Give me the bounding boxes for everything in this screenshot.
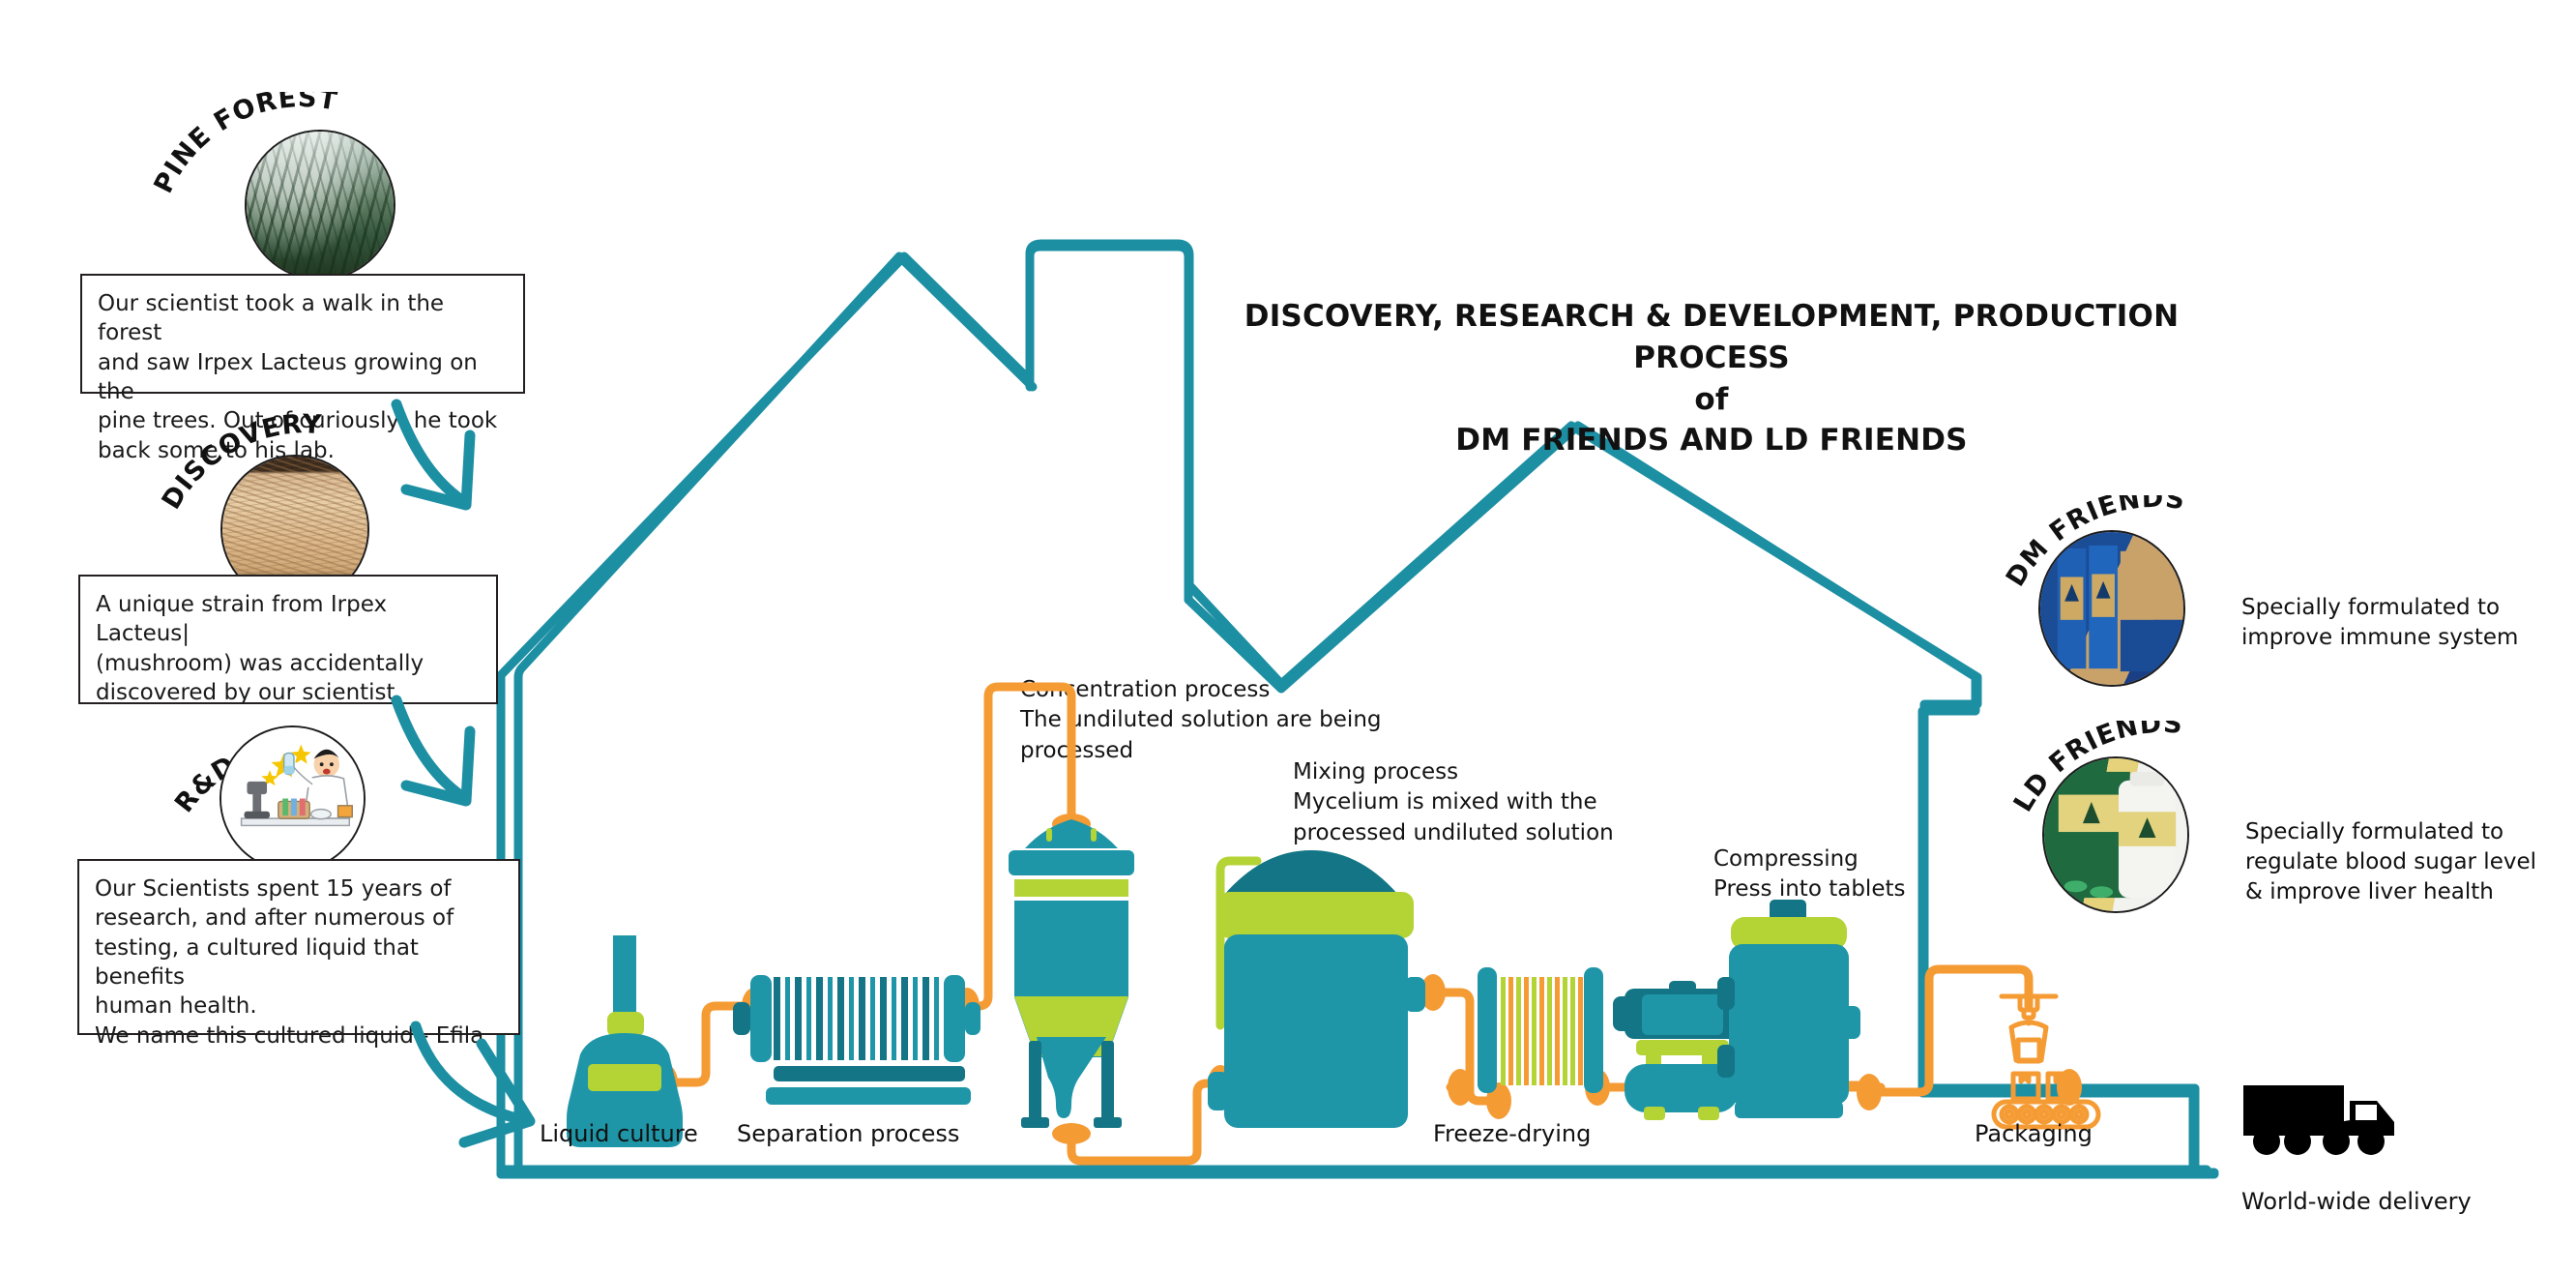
ld-friends-bottle — [2044, 758, 2187, 911]
ld-friends-product-photo — [2042, 756, 2189, 913]
freeze-drying-unit — [1478, 967, 1603, 1093]
desc-ld-friends: Specially formulated to regulate blood s… — [2245, 817, 2545, 906]
tablet-press — [1717, 900, 1860, 1118]
delivery-truck-icon — [2241, 1081, 2435, 1170]
mixing-tank — [1208, 850, 1425, 1128]
label-world-wide-delivery: World-wide delivery — [2241, 1188, 2472, 1215]
label-separation-process: Separation process — [737, 1120, 959, 1147]
label-freeze-drying: Freeze-drying — [1433, 1120, 1591, 1147]
separation-drum — [733, 975, 981, 1105]
dm-friends-product-photo — [2038, 530, 2185, 687]
packaging-icons — [1994, 975, 2098, 1127]
concentration-tank — [1009, 819, 1134, 1128]
dm-friends-sachets — [2040, 532, 2183, 685]
desc-dm-friends: Specially formulated to improve immune s… — [2241, 593, 2532, 653]
liquid-culture-vessel — [567, 935, 683, 1147]
infographic-canvas: PINE FOREST Our scientist took a walk in… — [0, 0, 2576, 1273]
label-liquid-culture: Liquid culture — [540, 1120, 698, 1147]
equipment-illustrations — [0, 0, 2576, 1273]
label-packaging: Packaging — [1975, 1120, 2093, 1147]
